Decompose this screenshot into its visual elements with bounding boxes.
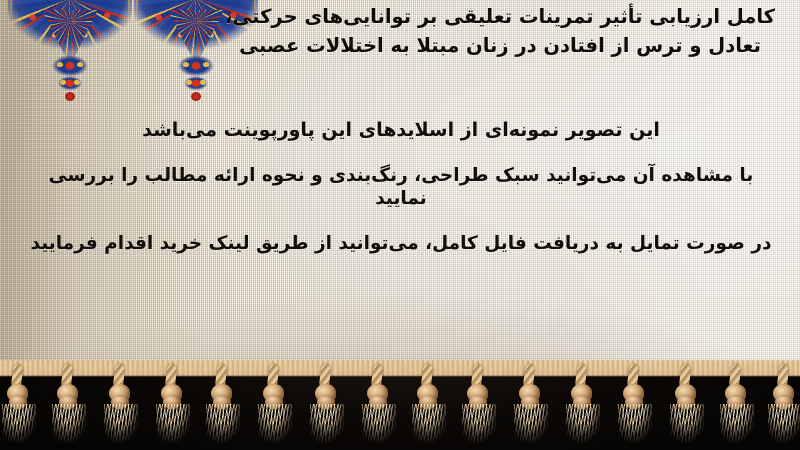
slide-title: کامل ارزیابی تأثیر تمرینات تعلیقی بر توا… xyxy=(215,2,785,60)
fringe-tassel xyxy=(248,364,302,444)
tassel-strands-icon xyxy=(52,404,86,444)
presentation-slide: کامل ارزیابی تأثیر تمرینات تعلیقی بر توا… xyxy=(0,0,800,450)
tassel-strands-icon xyxy=(310,404,344,444)
tassel-strands-icon xyxy=(618,404,652,444)
tassel-strands-icon xyxy=(2,404,36,444)
fringe-tassel xyxy=(452,364,506,444)
fringe-tassel xyxy=(504,364,558,444)
fringe-tassel xyxy=(758,364,800,444)
ornament-pendant-tiny-left xyxy=(65,92,75,101)
tassel-strands-icon xyxy=(412,404,446,444)
tassel-strands-icon xyxy=(362,404,396,444)
carpet-fringe-row xyxy=(0,364,800,450)
fringe-tassel xyxy=(196,364,250,444)
tassel-strands-icon xyxy=(156,404,190,444)
fringe-tassel xyxy=(710,364,764,444)
tassel-strands-icon xyxy=(258,404,292,444)
medallion-gold-outline xyxy=(10,0,130,62)
fringe-tassel xyxy=(146,364,200,444)
tassel-strands-icon xyxy=(206,404,240,444)
body-line-3: در صورت تمایل به دریافت فایل کامل، می‌تو… xyxy=(20,221,782,266)
fringe-tassel xyxy=(660,364,714,444)
body-line-2: با مشاهده آن می‌توانید سبک طراحی، رنگ‌بن… xyxy=(20,153,782,221)
fringe-tassel xyxy=(402,364,456,444)
fringe-tassel xyxy=(42,364,96,444)
ornament-pendant-small-left xyxy=(58,76,82,92)
tassel-strands-icon xyxy=(670,404,704,444)
tassel-strands-icon xyxy=(566,404,600,444)
tassel-strands-icon xyxy=(768,404,800,444)
tassel-strands-icon xyxy=(720,404,754,444)
ornament-pendant-tiny-right xyxy=(191,92,201,101)
ornament-pendant-small-right xyxy=(184,76,208,92)
fringe-tassel xyxy=(352,364,406,444)
fringe-tassel xyxy=(608,364,662,444)
fringe-tassel xyxy=(300,364,354,444)
fringe-tassel xyxy=(556,364,610,444)
fringe-tassel xyxy=(0,364,46,444)
tassel-strands-icon xyxy=(104,404,138,444)
body-line-1: این تصویر نمونه‌ای از اسلایدهای این پاور… xyxy=(20,108,782,153)
fringe-tassel xyxy=(94,364,148,444)
tassel-strands-icon xyxy=(462,404,496,444)
slide-body: این تصویر نمونه‌ای از اسلایدهای این پاور… xyxy=(20,108,782,266)
tassel-strands-icon xyxy=(514,404,548,444)
